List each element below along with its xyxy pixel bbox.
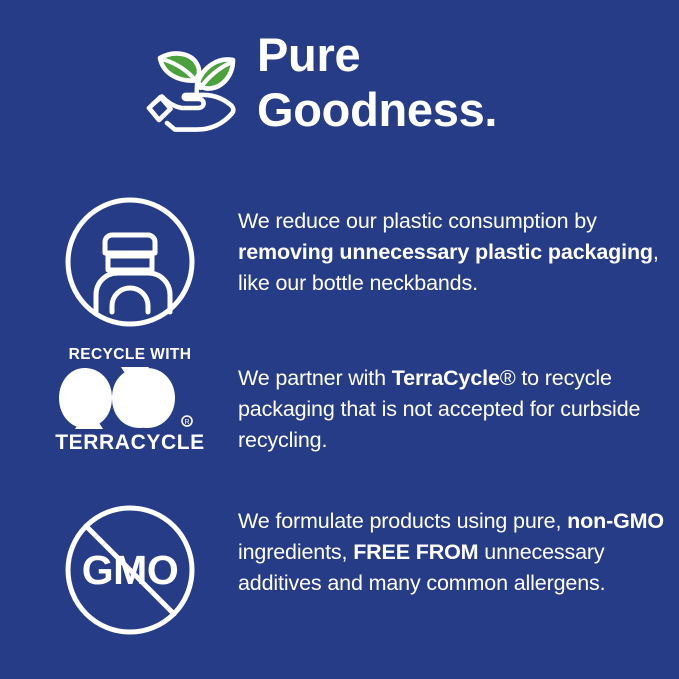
feature-text-plastic-reduction: We reduce our plastic consumption by rem… (205, 192, 679, 299)
feature-row-non-gmo: GMO We formulate products using pure, no… (0, 500, 679, 640)
hand-holding-sprout-icon (143, 30, 247, 134)
text-segment: We partner with (238, 366, 392, 390)
text-segment: We reduce our plastic consumption by (238, 209, 597, 233)
infinity-recycle-arrows-icon: R (57, 365, 203, 431)
feature-row-plastic-reduction: We reduce our plastic consumption by rem… (0, 192, 679, 332)
terracycle-logo: RECYCLE WITH R TERRACYCLE (55, 347, 205, 453)
no-gmo-label: GMO (82, 547, 178, 593)
svg-text:R: R (184, 419, 189, 426)
header: Pure Goodness. (0, 26, 679, 138)
text-segment: We formulate products using pure, (238, 509, 567, 533)
terracycle-logo-bottom-text: TERRACYCLE (55, 432, 205, 453)
page-title: Pure Goodness. (257, 26, 497, 138)
pure-goodness-infographic: Pure Goodness. We reduce our plastic c (0, 0, 679, 679)
feature-text-terracycle: We partner with TerraCycle® to recycle p… (205, 347, 679, 456)
text-segment: ingredients, (238, 540, 353, 564)
terracycle-logo-top-text: RECYCLE WITH (69, 347, 192, 363)
feature-text-non-gmo: We formulate products using pure, non-GM… (205, 500, 679, 599)
feature-icon-cell: RECYCLE WITH R TERRACYCLE (55, 347, 205, 453)
bottle-neckband-circle-icon (60, 192, 200, 332)
text-segment-bold: TerraCycle (392, 366, 500, 390)
feature-icon-cell (55, 192, 205, 332)
feature-row-terracycle: RECYCLE WITH R TERRACYCLE We partner wit… (0, 347, 679, 456)
no-gmo-circle-icon: GMO (60, 500, 200, 640)
feature-icon-cell: GMO (55, 500, 205, 640)
text-segment-bold: removing unnecessary plastic packaging (238, 240, 653, 264)
text-segment-bold: FREE FROM (353, 540, 478, 564)
text-segment-bold: non-GMO (567, 509, 664, 533)
